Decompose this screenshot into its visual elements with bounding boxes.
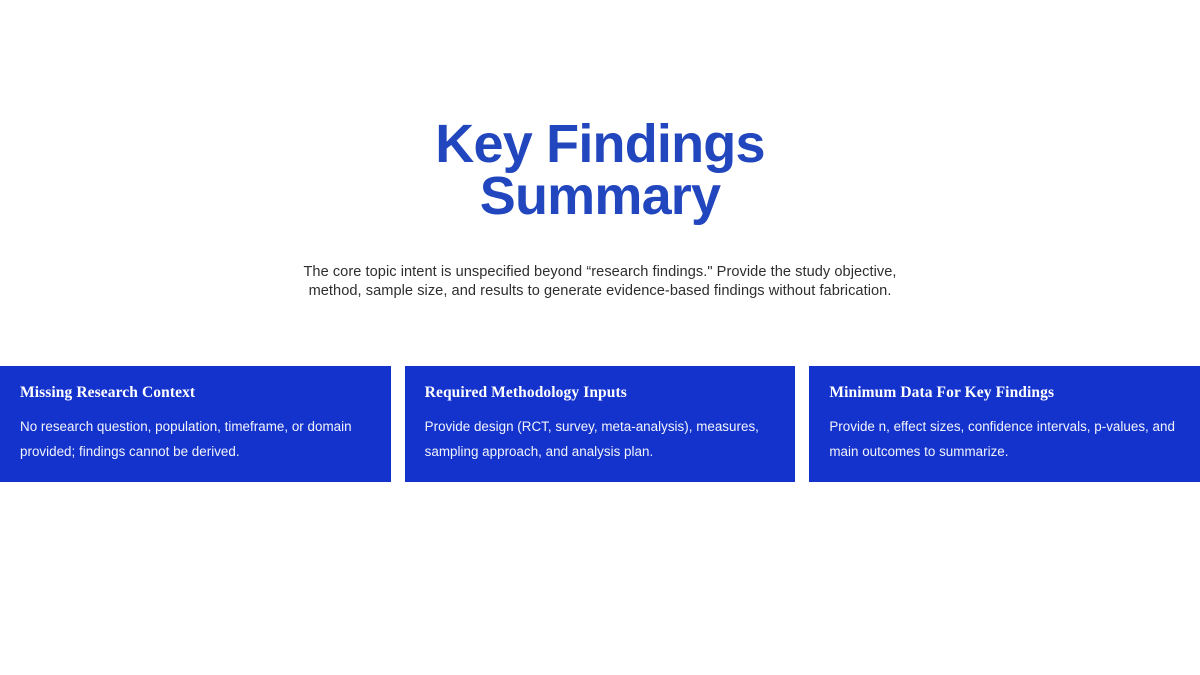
info-card-minimum-data-for-key-findings: Minimum Data For Key Findings Provide n,… [809, 366, 1200, 482]
subtitle-container: The core topic intent is unspecified bey… [0, 263, 1200, 301]
card-body: No research question, population, timefr… [20, 414, 371, 464]
slide-root: Key Findings Summary The core topic inte… [0, 0, 1200, 675]
info-card-missing-research-context: Missing Research Context No research que… [0, 366, 391, 482]
card-title: Minimum Data For Key Findings [829, 384, 1180, 402]
page-title: Key Findings Summary [0, 118, 1200, 222]
card-title: Missing Research Context [20, 384, 371, 402]
card-body: Provide n, effect sizes, confidence inte… [829, 414, 1180, 464]
cards-row: Missing Research Context No research que… [0, 366, 1200, 482]
info-card-required-methodology-inputs: Required Methodology Inputs Provide desi… [405, 366, 796, 482]
card-body: Provide design (RCT, survey, meta-analys… [425, 414, 776, 464]
page-subtitle: The core topic intent is unspecified bey… [300, 263, 900, 301]
card-title: Required Methodology Inputs [425, 384, 776, 402]
header: Key Findings Summary [0, 118, 1200, 222]
